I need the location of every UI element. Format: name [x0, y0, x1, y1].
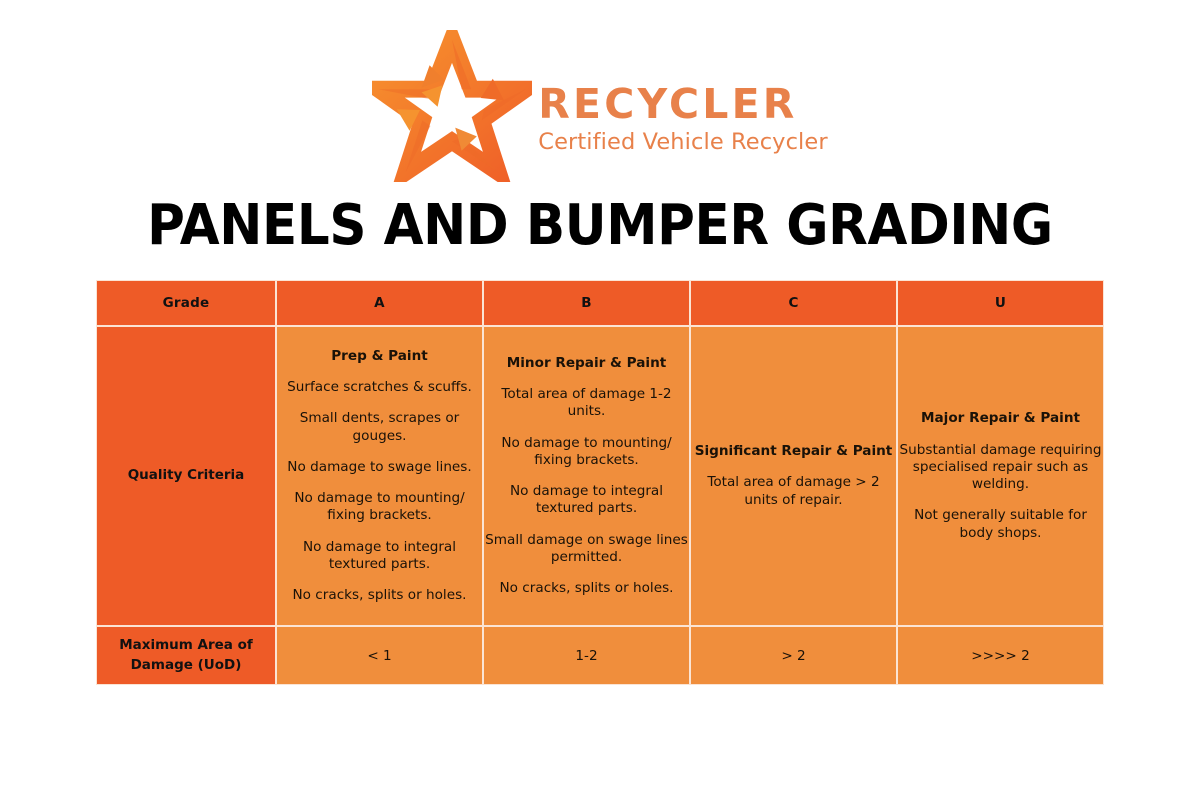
logo-subtitle: Certified Vehicle Recycler — [538, 126, 827, 160]
table-header-row: Grade A B C U — [96, 280, 1104, 326]
criteria-cell-grade-c: Significant Repair & Paint Total area of… — [690, 326, 897, 626]
uod-value-grade-u: >>>> 2 — [897, 626, 1104, 685]
criteria-line: No damage to mounting/ fixing brackets. — [484, 435, 689, 470]
uod-value-grade-a: < 1 — [276, 626, 483, 685]
criteria-line: Total area of damage 1-2 units. — [484, 386, 689, 421]
criteria-cell-grade-b: Minor Repair & Paint Total area of damag… — [483, 326, 690, 626]
header-grade-label: Grade — [96, 280, 276, 326]
criteria-heading: Significant Repair & Paint — [691, 443, 896, 460]
table-row: Quality Criteria Prep & Paint Surface sc… — [96, 326, 1104, 626]
logo-wordmark: RECYCLER Certified Vehicle Recycler — [538, 49, 827, 164]
criteria-line: No damage to swage lines. — [277, 459, 482, 476]
header-grade-u: U — [897, 280, 1104, 326]
criteria-cell-grade-u: Major Repair & Paint Substantial damage … — [897, 326, 1104, 626]
criteria-heading: Minor Repair & Paint — [484, 355, 689, 372]
criteria-line: Small damage on swage lines permitted. — [484, 532, 689, 567]
row-label-max-area-damage: Maximum Area of Damage (UoD) — [96, 626, 276, 685]
header-grade-b: B — [483, 280, 690, 326]
header-grade-a: A — [276, 280, 483, 326]
grading-table: Grade A B C U Quality Criteria Prep & Pa… — [96, 280, 1104, 685]
criteria-line: Total area of damage > 2 units of repair… — [691, 474, 896, 509]
recycling-star-icon — [372, 30, 532, 182]
row-label-quality-criteria: Quality Criteria — [96, 326, 276, 626]
criteria-heading: Prep & Paint — [277, 348, 482, 365]
criteria-line: No damage to integral textured parts. — [484, 483, 689, 518]
criteria-line: No cracks, splits or holes. — [277, 587, 482, 604]
criteria-cell-grade-a: Prep & Paint Surface scratches & scuffs.… — [276, 326, 483, 626]
criteria-line: Substantial damage requiring specialised… — [898, 442, 1103, 494]
criteria-line: No damage to mounting/ fixing brackets. — [277, 490, 482, 525]
logo-title: RECYCLER — [538, 83, 827, 126]
uod-value-grade-b: 1-2 — [483, 626, 690, 685]
header-grade-c: C — [690, 280, 897, 326]
criteria-line: Not generally suitable for body shops. — [898, 507, 1103, 542]
criteria-line: No damage to integral textured parts. — [277, 539, 482, 574]
table-row: Maximum Area of Damage (UoD) < 1 1-2 > 2… — [96, 626, 1104, 685]
page-title: PANELS AND BUMPER GRADING — [48, 193, 1152, 258]
brand-logo: RECYCLER Certified Vehicle Recycler — [0, 26, 1200, 186]
criteria-line: No cracks, splits or holes. — [484, 580, 689, 597]
criteria-line: Small dents, scrapes or gouges. — [277, 410, 482, 445]
uod-value-grade-c: > 2 — [690, 626, 897, 685]
criteria-line: Surface scratches & scuffs. — [277, 379, 482, 396]
logo-inner: RECYCLER Certified Vehicle Recycler — [372, 30, 827, 182]
criteria-heading: Major Repair & Paint — [898, 410, 1103, 427]
